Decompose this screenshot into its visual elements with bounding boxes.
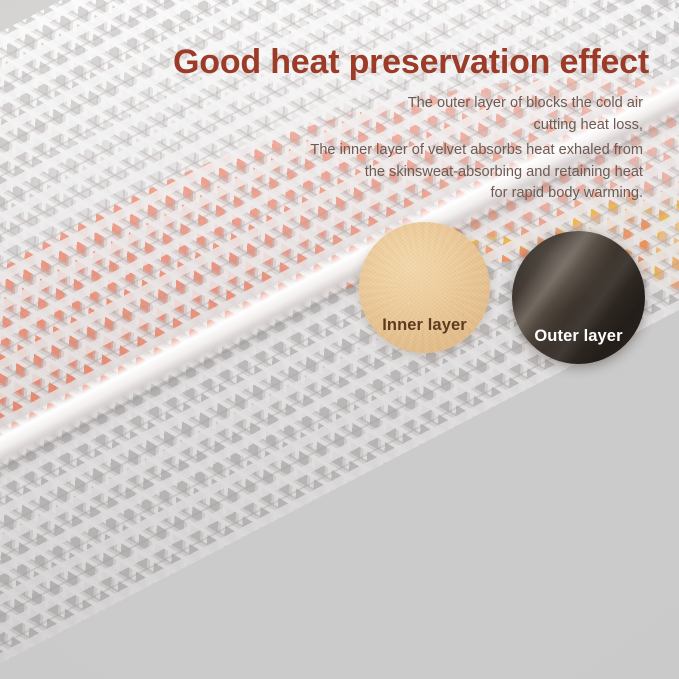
swatch-outer-layer: Outer layer xyxy=(512,231,645,364)
page-title: Good heat preservation effect xyxy=(0,42,649,82)
product-feature-poster: Good heat preservation effect The outer … xyxy=(0,0,679,679)
feature-paragraph-outer: The outer layer of blocks the cold air c… xyxy=(213,93,643,136)
swatch-inner-layer: Inner layer xyxy=(359,222,490,353)
swatch-inner-layer-label: Inner layer xyxy=(382,316,467,353)
feature-paragraph-inner: The inner layer of velvet absorbs heat e… xyxy=(213,140,643,205)
swatch-outer-layer-label: Outer layer xyxy=(534,327,622,364)
